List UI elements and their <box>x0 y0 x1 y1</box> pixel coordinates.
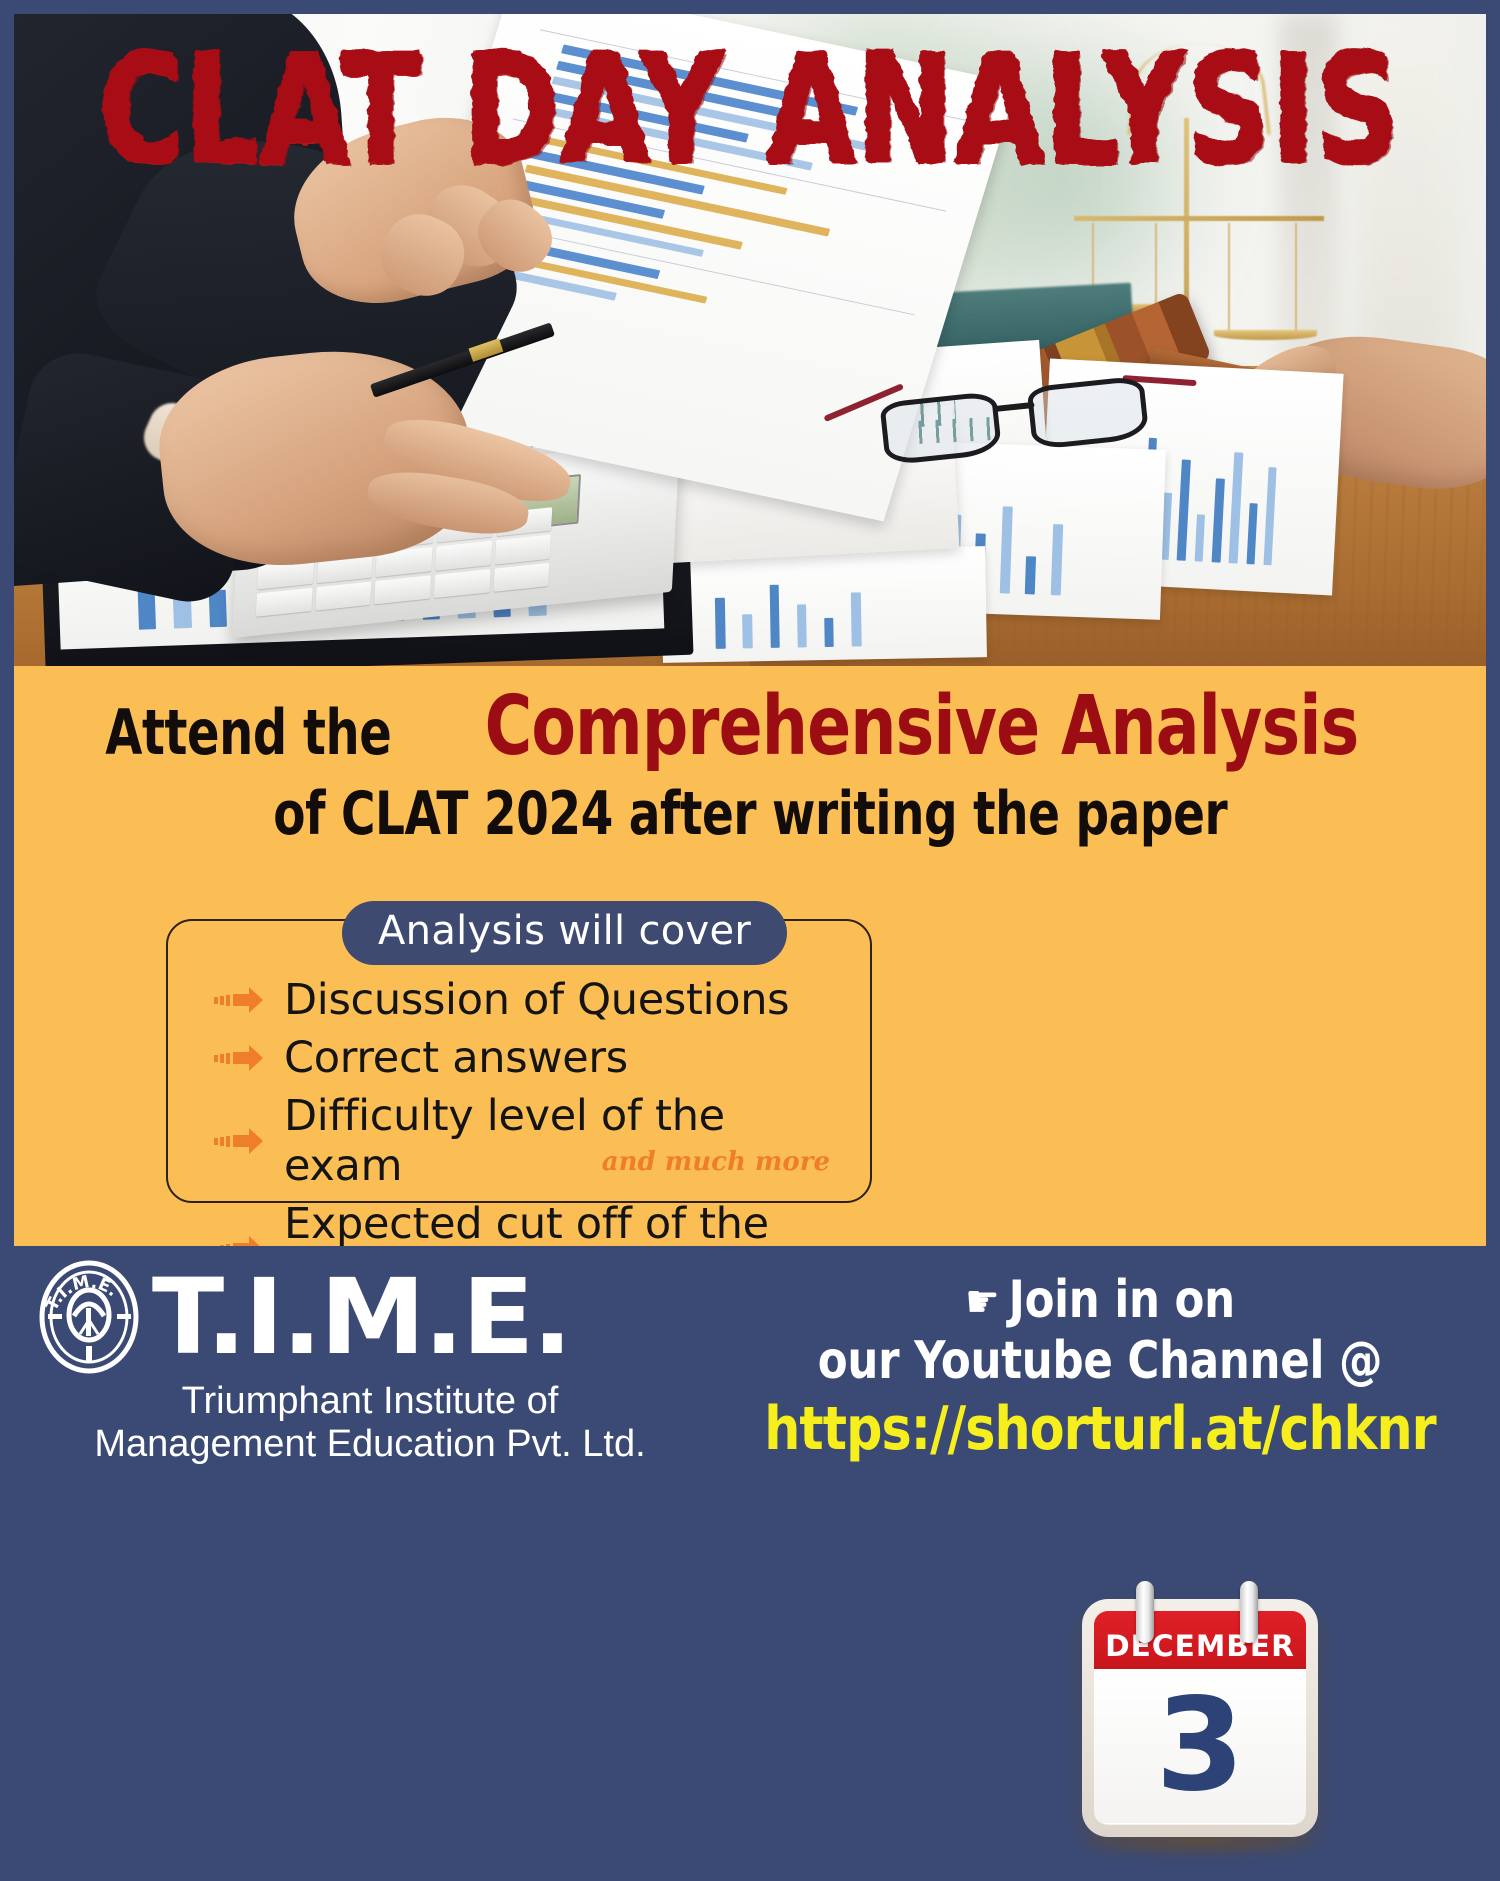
headline-attend: Attend the <box>106 701 392 765</box>
list-item-label: Correct answers <box>284 1033 628 1083</box>
page-title: CLAT DAY ANALYSIS <box>36 33 1464 184</box>
headline-emphasis: Comprehensive Analysis <box>484 684 1358 769</box>
document-bottom-center <box>661 546 987 662</box>
headline-line-1: Attend theComprehensive Analysis <box>14 684 1486 769</box>
poster-root: CLAT DAY ANALYSIS Attend theComprehensiv… <box>0 0 1500 1500</box>
scales-string-4 <box>1295 223 1297 334</box>
pointing-hand-icon: ☛ <box>965 1274 999 1328</box>
headline-line-2: of CLAT 2024 after writing the paper <box>273 783 1227 845</box>
brand-tagline-line-2: Management Education Pvt. Ltd. <box>36 1423 704 1466</box>
calendar-day: 3 <box>1094 1669 1306 1823</box>
footer: T.I.M.E. T.I.M.E. Triumphant Institute o… <box>14 1246 1486 1486</box>
calendar-ring <box>1136 1581 1154 1643</box>
headline-block: Attend theComprehensive Analysis of CLAT… <box>14 684 1486 846</box>
youtube-channel-link[interactable]: https://shorturl.at/chknr <box>737 1395 1463 1463</box>
brand-name: T.I.M.E. <box>152 1268 571 1367</box>
scales-string-2 <box>1155 223 1157 308</box>
scales-string-3 <box>1228 223 1230 334</box>
coverage-section: Analysis will cover Discussion of Questi… <box>166 901 872 1203</box>
calendar-month: DECEMBER <box>1094 1611 1306 1669</box>
time-logo-emblem-icon: T.I.M.E. <box>36 1258 142 1376</box>
brand-tagline-line-1: Triumphant Institute of <box>36 1380 704 1423</box>
hero-photo: CLAT DAY ANALYSIS <box>14 14 1486 666</box>
calendar-icon: DECEMBER 3 <box>1054 1581 1346 1881</box>
list-item: Discussion of Questions <box>214 975 846 1025</box>
main-content-panel: Attend theComprehensive Analysis of CLAT… <box>14 666 1486 1246</box>
calendar-ring <box>1240 1581 1258 1643</box>
list-item-label: Discussion of Questions <box>284 975 789 1025</box>
scales-beam <box>1074 216 1324 221</box>
arrow-right-icon <box>214 1043 268 1073</box>
brand-tagline: Triumphant Institute of Management Educa… <box>36 1380 714 1465</box>
calendar-body: DECEMBER 3 <box>1082 1599 1318 1837</box>
coverage-badge: Analysis will cover <box>342 901 787 965</box>
join-block: ☛Join in on our Youtube Channel @ https:… <box>714 1246 1486 1463</box>
arrow-right-icon <box>214 1126 268 1156</box>
headline-line-2-wrap: of CLAT 2024 after writing the paper <box>14 769 1486 845</box>
calendar-face: DECEMBER 3 <box>1094 1611 1306 1825</box>
join-line-2: our Youtube Channel @ <box>741 1331 1459 1392</box>
brand-block: T.I.M.E. T.I.M.E. Triumphant Institute o… <box>14 1246 714 1465</box>
coverage-footnote: and much more <box>602 1147 830 1177</box>
join-line-1-label: Join in on <box>1009 1270 1235 1330</box>
join-line-1: ☛Join in on <box>741 1270 1459 1331</box>
arrow-right-icon <box>214 985 268 1015</box>
brand-row: T.I.M.E. T.I.M.E. <box>36 1258 714 1376</box>
glasses-lens-left <box>880 391 1002 466</box>
list-item: Correct answers <box>214 1033 846 1083</box>
glasses-lens-right <box>1027 376 1149 451</box>
